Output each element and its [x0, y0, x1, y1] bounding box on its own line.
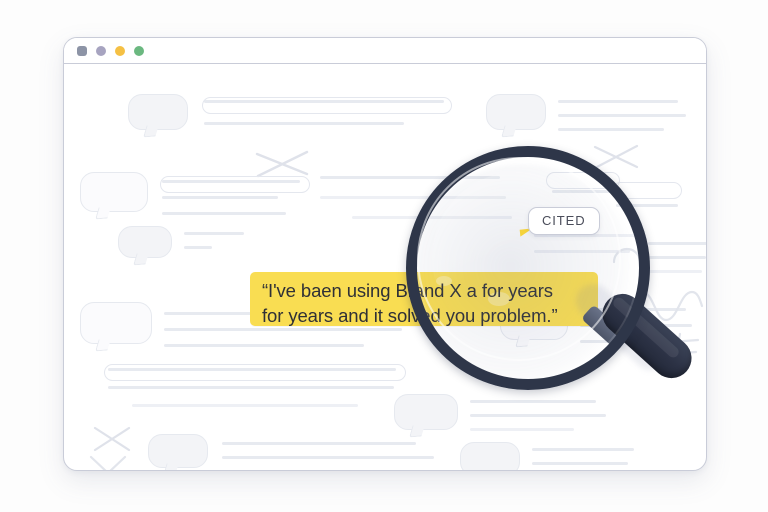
window-titlebar: [64, 38, 706, 64]
arc-mark-icon: [612, 242, 642, 269]
text-line-placeholder: [204, 122, 404, 125]
speech-bubble-placeholder: [118, 226, 172, 258]
text-line-placeholder: [164, 344, 364, 347]
highlighted-quote[interactable]: “I've baen using Brand X a for years for…: [250, 272, 598, 326]
hash-mark-icon: [638, 330, 704, 375]
text-line-placeholder: [558, 114, 686, 117]
text-line-placeholder: [162, 212, 286, 215]
text-line-placeholder: [558, 100, 678, 103]
text-line-placeholder: [222, 456, 434, 459]
text-line-placeholder: [108, 368, 396, 371]
text-line-placeholder: [352, 216, 512, 219]
browser-window: “I've baen using Brand X a for years for…: [63, 37, 707, 471]
text-line-placeholder: [558, 128, 664, 131]
quote-text: “I've baen using Brand X a for years for…: [262, 278, 590, 328]
text-line-placeholder: [320, 196, 506, 199]
illustration-canvas: “I've baen using Brand X a for years for…: [0, 0, 768, 512]
window-minimize-dot[interactable]: [77, 46, 87, 56]
text-line-placeholder: [470, 428, 574, 431]
pill-line-placeholder: [104, 364, 406, 381]
text-line-placeholder: [470, 414, 606, 417]
text-line-placeholder: [648, 270, 702, 273]
text-line-placeholder: [552, 190, 618, 193]
text-line-placeholder: [108, 386, 394, 389]
speech-bubble-placeholder: [128, 94, 188, 130]
text-line-placeholder: [320, 176, 500, 179]
x-mark-icon: [592, 142, 640, 172]
speech-bubble-placeholder: [486, 94, 546, 130]
x-mark-icon: [92, 424, 132, 454]
text-line-placeholder: [532, 462, 628, 465]
speech-bubble-placeholder: [148, 434, 208, 468]
speech-bubble-placeholder: [80, 172, 148, 212]
chevron-down-icon: [88, 454, 128, 470]
pill-line-placeholder: [546, 172, 620, 189]
quote-line-2: for years and it solved you problem.”: [262, 303, 590, 328]
window-expand-dot[interactable]: [96, 46, 106, 56]
document-canvas: “I've baen using Brand X a for years for…: [64, 64, 706, 470]
text-line-placeholder: [184, 232, 244, 235]
squiggle-mark-icon: [640, 286, 706, 331]
text-line-placeholder: [184, 246, 212, 249]
cited-badge[interactable]: CITED: [528, 207, 600, 235]
pill-line-placeholder: [612, 182, 682, 199]
speech-bubble-placeholder: [460, 442, 520, 470]
text-line-placeholder: [648, 242, 706, 245]
quote-line-1: “I've baen using Brand X a for years: [262, 278, 590, 303]
text-line-placeholder: [532, 448, 634, 451]
window-close-dot[interactable]: [134, 46, 144, 56]
text-line-placeholder: [222, 442, 416, 445]
text-line-placeholder: [164, 328, 402, 331]
speech-bubble-placeholder: [80, 302, 152, 344]
pill-line-placeholder: [160, 176, 310, 193]
text-line-placeholder: [648, 256, 706, 259]
text-line-placeholder: [132, 404, 358, 407]
text-line-placeholder: [470, 400, 596, 403]
window-warn-dot[interactable]: [115, 46, 125, 56]
traffic-light-group: [77, 46, 144, 56]
speech-bubble-placeholder: [394, 394, 458, 430]
text-line-placeholder: [162, 180, 300, 183]
text-line-placeholder: [616, 204, 678, 207]
text-line-placeholder: [162, 196, 278, 199]
pill-line-placeholder: [202, 97, 452, 114]
